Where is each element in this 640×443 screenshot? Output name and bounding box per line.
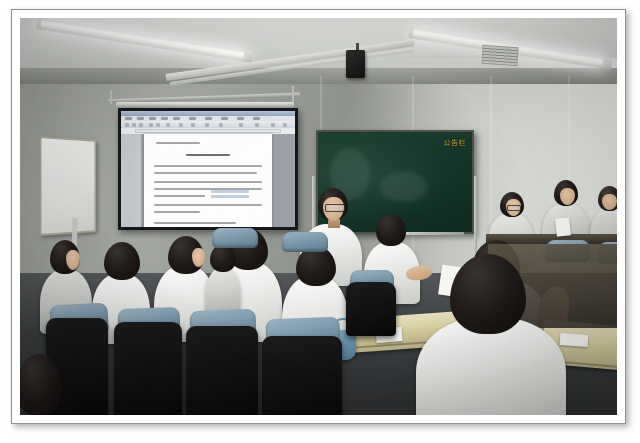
classroom-chair[interactable]	[346, 282, 396, 336]
menu-item[interactable]	[221, 117, 228, 120]
classroom-chair[interactable]	[186, 326, 258, 415]
student-head	[104, 242, 140, 280]
document-header-note	[156, 142, 200, 144]
whiteboard	[39, 136, 96, 236]
toolbar-button[interactable]	[219, 123, 223, 127]
toolbar-button[interactable]	[179, 123, 183, 127]
document-body-line	[154, 172, 257, 174]
eyeglasses	[507, 205, 521, 211]
screenshot-root: 公告栏	[0, 0, 640, 443]
toolbar-button[interactable]	[239, 123, 243, 127]
chair-cushion	[212, 228, 258, 248]
photograph: 公告栏	[20, 18, 617, 415]
photo-scene: 公告栏	[20, 18, 617, 415]
document-title	[186, 154, 230, 156]
handout-paper	[560, 333, 589, 347]
toolbar-button[interactable]	[255, 123, 259, 127]
classroom-chair[interactable]	[262, 336, 342, 415]
toolbar-button[interactable]	[271, 123, 275, 127]
photo-frame: 公告栏	[11, 9, 626, 424]
document-body-line	[154, 195, 206, 197]
menu-item[interactable]	[237, 117, 244, 120]
toolbar-button[interactable]	[125, 123, 129, 127]
document-body-line	[154, 222, 236, 224]
pull-down-projection-screen	[118, 108, 298, 230]
student-head	[376, 214, 406, 246]
toolbar-button[interactable]	[283, 123, 287, 127]
screen-hanger-right	[292, 86, 294, 102]
app-toolbar	[121, 121, 295, 128]
document-highlight	[211, 190, 250, 193]
handout-paper	[555, 217, 571, 236]
menu-item[interactable]	[149, 117, 156, 120]
presenter-eyeglasses	[325, 204, 345, 212]
document-body-line	[154, 181, 262, 183]
menu-item[interactable]	[189, 117, 196, 120]
toolbar-button[interactable]	[191, 123, 195, 127]
document-body-line	[154, 165, 262, 167]
student-head	[210, 244, 236, 272]
menu-item[interactable]	[253, 117, 260, 120]
document-body-line	[154, 204, 262, 206]
projection-surface	[121, 111, 295, 227]
menu-item[interactable]	[161, 117, 168, 120]
toolbar-button[interactable]	[205, 123, 209, 127]
menu-item[interactable]	[173, 117, 180, 120]
ceiling-vent-grille	[481, 45, 518, 66]
screen-hanger-left	[110, 90, 112, 104]
app-ruler	[135, 129, 281, 133]
toolbar-button[interactable]	[149, 123, 153, 127]
document-highlight	[211, 195, 250, 198]
chalk-smudge	[380, 172, 428, 202]
ceiling-wall-junction	[20, 68, 617, 84]
document-nav-pane[interactable]	[121, 134, 142, 227]
toolbar-button[interactable]	[166, 123, 170, 127]
wall-speaker	[346, 50, 365, 78]
classroom-chair[interactable]	[114, 322, 182, 415]
document-canvas	[121, 134, 295, 227]
document-body-line	[154, 211, 200, 213]
chair-cushion	[282, 232, 328, 252]
toolbar-button[interactable]	[139, 123, 143, 127]
document-page	[144, 134, 273, 227]
student-head	[296, 246, 336, 286]
toolbar-button[interactable]	[132, 123, 136, 127]
menu-item[interactable]	[125, 117, 132, 120]
chalkboard-corner-label: 公告栏	[444, 138, 467, 148]
toolbar-button[interactable]	[156, 123, 160, 127]
menu-item[interactable]	[137, 117, 144, 120]
menu-item[interactable]	[205, 117, 212, 120]
